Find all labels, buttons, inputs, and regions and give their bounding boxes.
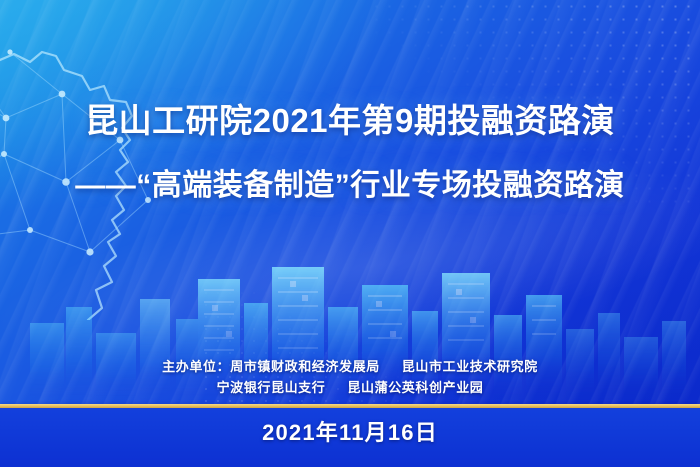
title-block: 昆山工研院2021年第9期投融资路演 ——“高端装备制造”行业专场投融资路演 <box>0 100 700 206</box>
organizer-kunshan-institute: 昆山市工业技术研究院 <box>402 359 538 374</box>
page-subtitle: ——“高端装备制造”行业专场投融资路演 <box>0 142 700 206</box>
organizer-dandelion-park: 昆山蒲公英科创产业园 <box>347 380 483 395</box>
organizers-line-2: 宁波银行昆山支行昆山蒲公英科创产业园 <box>0 377 700 398</box>
event-date: 2021年11月16日 <box>0 416 700 450</box>
organizers-label: 主办单位： <box>162 359 230 374</box>
page-title: 昆山工研院2021年第9期投融资路演 <box>0 100 700 142</box>
event-poster: 昆山工研院2021年第9期投融资路演 ——“高端装备制造”行业专场投融资路演 主… <box>0 0 700 467</box>
organizer-zhoushi-bureau: 周市镇财政和经济发展局 <box>230 359 380 374</box>
organizers-block: 主办单位：周市镇财政和经济发展局昆山市工业技术研究院 宁波银行昆山支行昆山蒲公英… <box>0 356 700 398</box>
organizers-line-1: 主办单位：周市镇财政和经济发展局昆山市工业技术研究院 <box>0 356 700 377</box>
organizer-ningbo-bank: 宁波银行昆山支行 <box>217 380 326 395</box>
